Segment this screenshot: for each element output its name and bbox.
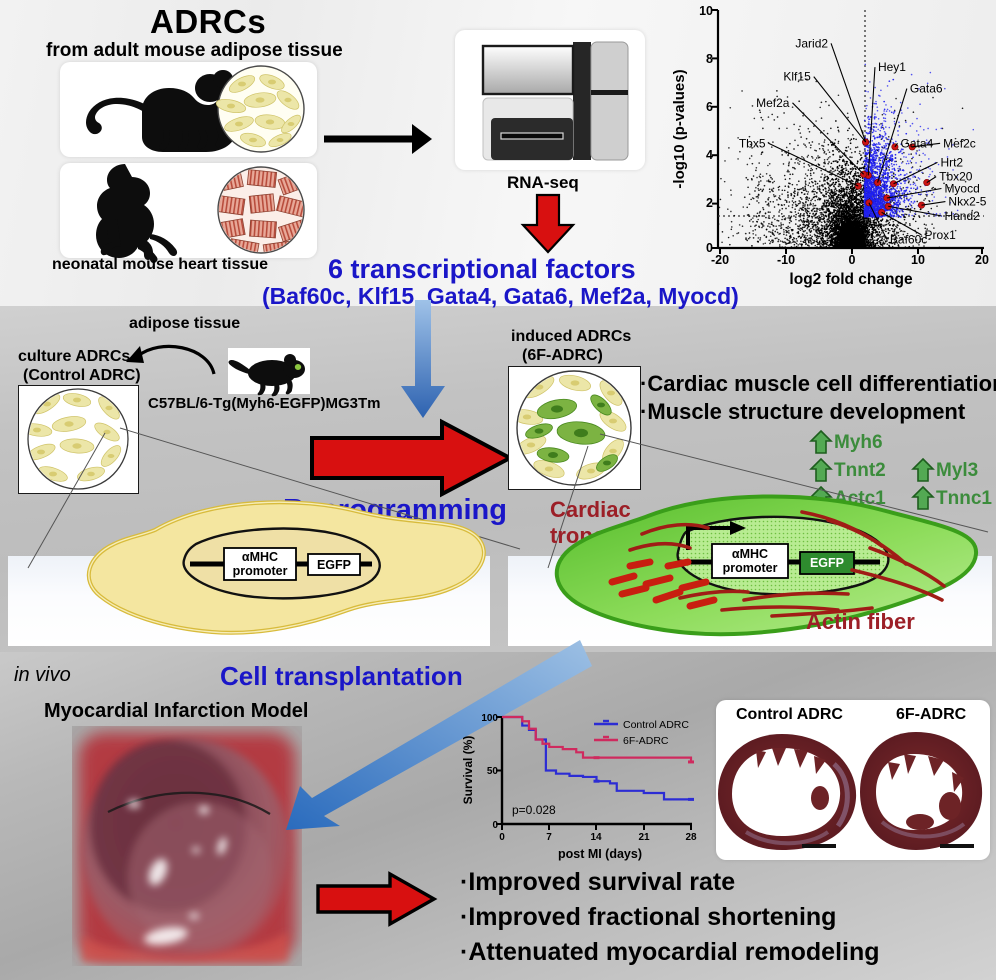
volcano-annotation-myocd: Myocd xyxy=(944,182,979,196)
transgenic-mouse-icon xyxy=(228,348,310,394)
volcano-xlabel: log2 fold change xyxy=(789,271,913,288)
heart-tissue-micrograph-icon xyxy=(206,163,316,258)
actin-fiber-label: Actin fiber xyxy=(806,610,915,635)
rna-sequencer-icon xyxy=(455,30,645,170)
volcano-ylabel: -log10 (p-values) xyxy=(671,69,688,188)
volcano-annotation-mef2c: Mef2c xyxy=(943,136,976,150)
control-cell-illustration: αMHC promoter EGFP xyxy=(60,490,490,652)
outcome-bullet-2: ·Muscle structure development xyxy=(640,400,965,425)
volcano-annotation-klf15: Klf15 xyxy=(783,70,811,84)
volcano-annotation-hrt2: Hrt2 xyxy=(940,155,963,169)
volcano-annotation-prox1: Prox1 xyxy=(924,228,956,242)
svg-text:8: 8 xyxy=(706,52,713,66)
culture-adrc-label-1: culture ADRCs xyxy=(18,348,130,366)
rnaseq-label: RNA-seq xyxy=(507,173,579,192)
heart-histology-sections xyxy=(716,726,990,858)
mouse-strain-label: C57BL/6-Tg(Myh6-EGFP)MG3Tm xyxy=(148,396,381,413)
neonatal-mouse-card xyxy=(60,163,317,258)
control-cell-micrograph-icon xyxy=(19,386,138,493)
survival-plot: 100500 0714 2128 Control ADRC6F-ADRC p=0… xyxy=(460,706,710,866)
histology-label-control: Control ADRC xyxy=(736,706,843,724)
tf-headline: 6 transcriptional factors xyxy=(328,254,636,284)
volcano-annotation-baf60c: Baf60c xyxy=(890,233,927,247)
volcano-annotation-gata4: Gata4 xyxy=(901,136,934,150)
red-down-arrow-icon xyxy=(519,195,577,253)
page-title: ADRCs xyxy=(150,4,266,41)
outcome-bullet-1: ·Cardiac muscle cell differentiation xyxy=(640,372,996,397)
reporter-label: EGFP xyxy=(317,558,351,572)
adipose-cell-micrograph-icon xyxy=(206,62,316,157)
svg-text:-20: -20 xyxy=(711,253,729,267)
control-section xyxy=(718,734,856,850)
gene-label-myh6: Myh6 xyxy=(834,432,883,453)
neonatal-tissue-caption: neonatal mouse heart tissue xyxy=(52,256,268,274)
induced-cell-micrograph-icon xyxy=(509,367,640,489)
promoter-label-1: αMHC xyxy=(242,550,278,564)
neonatal-mouse-silhouette-icon xyxy=(60,163,210,258)
survival-xlabel: post MI (days) xyxy=(558,847,642,861)
red-right-arrow-bottom-icon xyxy=(318,872,436,926)
legend-item-control-adrc: Control ADRC xyxy=(623,719,689,731)
volcano-annotation-hand2: Hand2 xyxy=(944,209,980,223)
graphical-abstract: ADRCs from adult mouse adipose tissue xyxy=(0,0,996,980)
green-up-arrow-icon xyxy=(912,458,934,482)
promoter-label-1-green: αMHC xyxy=(732,547,768,561)
result-bullet-1: ·Improved survival rate xyxy=(460,868,735,896)
induced-adrc-label-2: (6F-ADRC) xyxy=(522,347,603,365)
svg-text:4: 4 xyxy=(706,148,713,162)
promoter-label-2: promoter xyxy=(233,564,288,578)
gene-label-myl3: Myl3 xyxy=(936,460,978,481)
arrow-right-icon xyxy=(322,118,432,160)
svg-text:-10: -10 xyxy=(777,253,795,267)
legend-item-6f-adrc: 6F-ADRC xyxy=(623,735,669,747)
volcano-annotation-jarid2: Jarid2 xyxy=(795,36,828,50)
svg-text:10: 10 xyxy=(699,4,713,18)
culture-adrc-label-2: (Control ADRC) xyxy=(23,367,141,385)
svg-text:10: 10 xyxy=(911,253,925,267)
result-bullet-2: ·Improved fractional shortening xyxy=(460,903,836,931)
volcano-annotation-hey1: Hey1 xyxy=(878,60,906,74)
p-value-label: p=0.028 xyxy=(512,803,556,817)
result-bullet-3: ·Attenuated myocardial remodeling xyxy=(460,938,880,966)
gene-label-tnnt2: Tnnt2 xyxy=(834,460,886,481)
histology-label-6f: 6F-ADRC xyxy=(896,706,966,724)
volcano-annotation-tbx5: Tbx5 xyxy=(739,136,766,150)
control-adrc-dish xyxy=(18,385,139,494)
transgenic-mouse-card xyxy=(228,348,310,394)
blue-down-arrow-icon xyxy=(393,300,453,420)
svg-text:20: 20 xyxy=(975,253,989,267)
reporter-label-green: EGFP xyxy=(810,556,844,570)
red-right-arrow-icon xyxy=(312,420,512,496)
volcano-annotation-nkx2-5: Nkx2-5 xyxy=(948,195,986,209)
green-up-arrow-icon xyxy=(810,430,832,454)
volcano-annotation-gata6: Gata6 xyxy=(910,82,943,96)
volcano-annotation-mef2a: Mef2a xyxy=(756,96,790,110)
page-subtitle: from adult mouse adipose tissue xyxy=(46,40,343,61)
survival-ylabel: Survival (%) xyxy=(461,736,475,805)
promoter-label-2-green: promoter xyxy=(723,561,778,575)
volcano-plot: 1086 420 -20-10 01020 xyxy=(666,2,996,288)
svg-text:6: 6 xyxy=(706,100,713,114)
histology-card: Control ADRC 6F-ADRC xyxy=(716,700,990,860)
svg-text:2: 2 xyxy=(706,196,713,210)
in-vivo-label: in vivo xyxy=(14,664,71,686)
svg-text:0: 0 xyxy=(849,253,856,267)
green-up-arrow-icon xyxy=(810,458,832,482)
induced-adrc-label-1: induced ADRCs xyxy=(511,328,631,346)
rna-sequencer-card xyxy=(455,30,645,170)
induced-adrc-dish xyxy=(508,366,641,490)
adult-mouse-card xyxy=(60,62,317,157)
treated-section xyxy=(860,732,982,850)
